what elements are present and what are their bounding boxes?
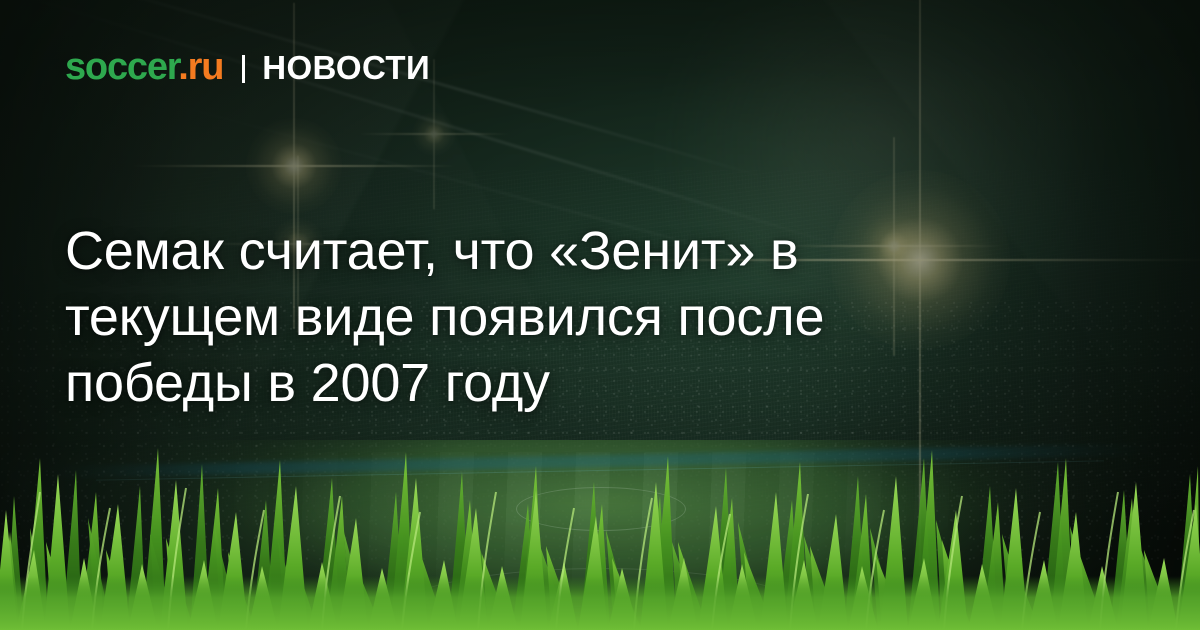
page-title: Семак считает, что «Зенит» в текущем вид… — [65, 218, 965, 416]
header-divider — [242, 55, 245, 83]
news-share-card: soccer.ru НОВОСТИ Семак считает, что «Зе… — [0, 0, 1200, 630]
floodlight-flare-icon — [246, 118, 342, 214]
card-header: soccer.ru НОВОСТИ — [65, 48, 430, 86]
section-label-news: НОВОСТИ — [262, 51, 430, 84]
site-logo-name: soccer — [65, 46, 178, 88]
site-logo[interactable]: soccer.ru — [65, 48, 223, 86]
pitch-centre-circle — [516, 487, 686, 531]
floodlight-flare-icon — [412, 112, 456, 156]
site-logo-tld: .ru — [178, 46, 223, 88]
